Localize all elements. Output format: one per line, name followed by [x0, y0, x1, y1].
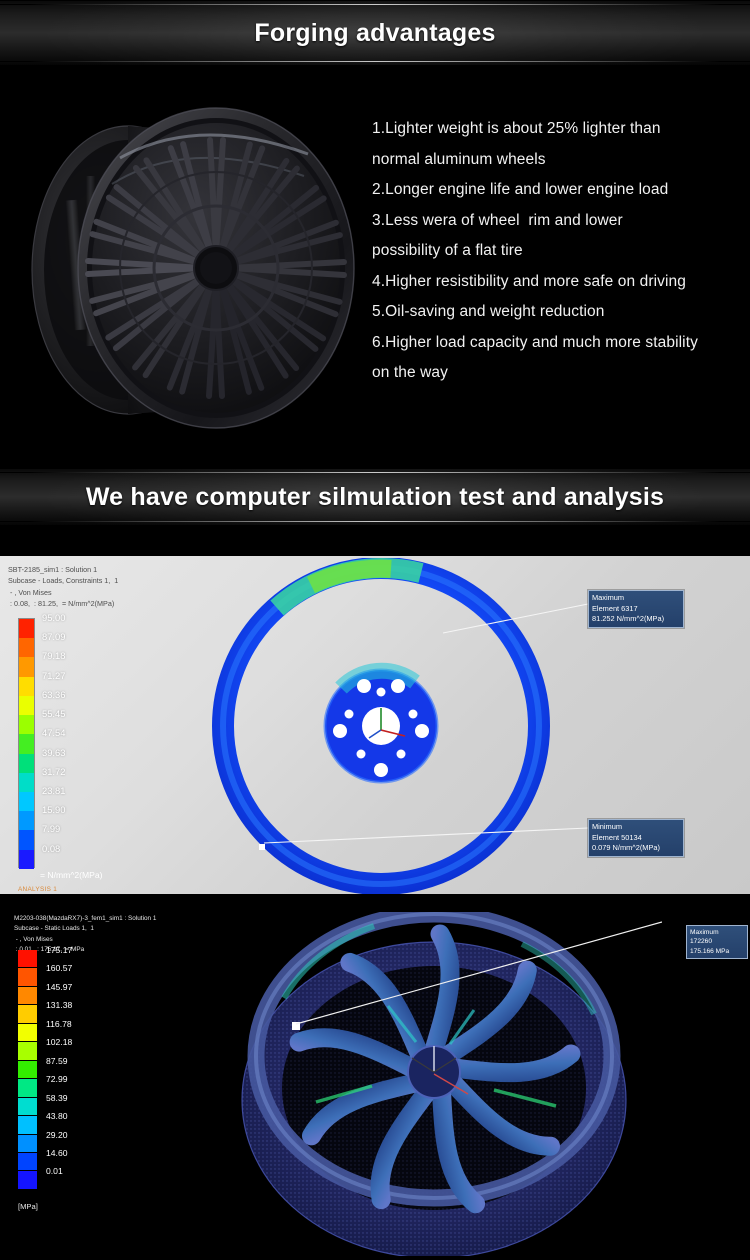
fea-2-tick: 116.78	[46, 1019, 106, 1037]
advantages-list: 1.Lighter weight is about 25% lighter th…	[372, 114, 740, 389]
advantage-item-2: 2.Longer engine life and lower engine lo…	[372, 175, 740, 206]
fea-2-tick: 43.80	[46, 1111, 106, 1129]
fea-2-tick: 14.60	[46, 1148, 106, 1166]
fea-1-colorbar-labels: 95.00 87.09 79.18 71.27 63.36 55.45 47.5…	[42, 612, 104, 862]
fea-2-tick: 58.39	[46, 1093, 106, 1111]
fea-2-unit-label: [MPa]	[18, 1202, 38, 1211]
fea-2-tick: 72.99	[46, 1074, 106, 1092]
fea-wheel-2-illustration	[222, 912, 662, 1256]
fea-1-tick: 87.09	[42, 631, 104, 650]
fea-2-tick: 87.59	[46, 1056, 106, 1074]
banner-1-title: Forging advantages	[254, 19, 495, 48]
fea-wheel-front-view	[196, 558, 566, 894]
fea-2-tick: 145.97	[46, 982, 106, 1000]
fea-2-tick: 131.38	[46, 1000, 106, 1018]
fea-1-tick: 71.27	[42, 670, 104, 689]
fea-simulation-panel-2: M2203-038(MazdaRX7)-3_fem1_sim1 : Soluti…	[0, 900, 750, 1260]
fea-2-maximum-callout: Maximum 172260 175.166 MPa	[686, 925, 748, 959]
fea-1-analysis-label: ANALYSIS 1	[18, 886, 57, 893]
fea-1-tick: 39.63	[42, 747, 104, 766]
fea-1-maximum-callout: Maximum Element 6317 81.252 N/mm^2(MPa)	[588, 590, 684, 628]
fea-2-colorbar-labels: 175.17 160.57 145.97 131.38 116.78 102.1…	[46, 945, 106, 1185]
fea-2-tick: 175.17	[46, 945, 106, 963]
advantage-item-5: 5.Oil-saving and weight reduction	[372, 297, 740, 328]
fea-1-unit-label: = N/mm^2(MPa)	[40, 870, 103, 880]
fea-1-minimum-callout: Minimum Element 50134 0.079 N/mm^2(MPa)	[588, 819, 684, 857]
fea-1-tick: 23.81	[42, 785, 104, 804]
fea-2-tick: 29.20	[46, 1130, 106, 1148]
fea-1-colorbar-gradient	[18, 618, 35, 868]
fea-1-tick: 55.45	[42, 708, 104, 727]
fea-1-tick: 95.00	[42, 612, 104, 631]
forged-wheel-illustration	[8, 80, 360, 452]
fea-2-tick: 102.18	[46, 1037, 106, 1055]
fea-1-tick: 63.36	[42, 689, 104, 708]
banner-2-title: We have computer silmulation test and an…	[86, 483, 664, 512]
fea-wheel-1-illustration	[196, 558, 566, 894]
fea-2-tick: 160.57	[46, 963, 106, 981]
banner-simulation-test: We have computer silmulation test and an…	[0, 468, 750, 526]
advantage-item-6: 6.Higher load capacity and much more sta…	[372, 328, 740, 389]
fea-2-tick: 0.01	[46, 1166, 106, 1184]
fea-1-header-text: SBT-2185_sim1 : Solution 1 Subcase - Loa…	[8, 564, 118, 610]
forged-wheel-photo	[8, 80, 360, 452]
advantages-section: 1.Lighter weight is about 25% lighter th…	[0, 66, 750, 468]
fea-wheel-mesh-view	[222, 912, 662, 1256]
fea-1-tick: 31.72	[42, 766, 104, 785]
banner-forging-advantages: Forging advantages	[0, 0, 750, 66]
advantage-item-3: 3.Less wera of wheel rim and lower possi…	[372, 206, 740, 267]
fea-1-tick: 0.08	[42, 843, 104, 862]
fea-1-tick: 7.99	[42, 823, 104, 842]
fea-1-tick: 15.90	[42, 804, 104, 823]
advantage-item-4: 4.Higher resistibility and more safe on …	[372, 267, 740, 298]
fea-2-colorbar-gradient	[18, 950, 37, 1190]
fea-1-tick: 79.18	[42, 650, 104, 669]
product-description-page: Forging advantages	[0, 0, 750, 1260]
fea-1-tick: 47.54	[42, 727, 104, 746]
advantage-item-1: 1.Lighter weight is about 25% lighter th…	[372, 114, 740, 175]
